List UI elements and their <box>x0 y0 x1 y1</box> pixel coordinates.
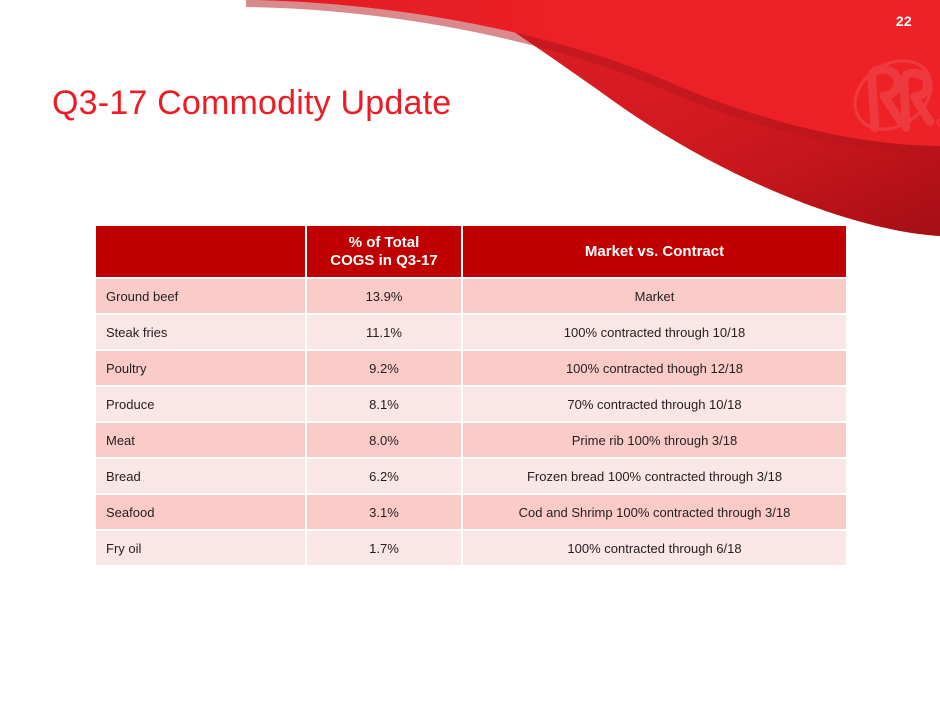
page-number: 22 <box>896 14 912 28</box>
slide-canvas: 22 Q3-17 Commodity Update % of Total COG… <box>0 0 940 705</box>
cell-percent-cogs: 13.9% <box>307 279 461 313</box>
cell-market-note: Frozen bread 100% contracted through 3/1… <box>463 459 846 493</box>
cell-market-note: 100% contracted through 6/18 <box>463 531 846 565</box>
table-row: Fry oil 1.7% 100% contracted through 6/1… <box>96 531 846 565</box>
cell-commodity-name: Steak fries <box>96 315 305 349</box>
column-header-market-vs-contract: Market vs. Contract <box>463 226 846 277</box>
table-row: Seafood 3.1% Cod and Shrimp 100% contrac… <box>96 495 846 529</box>
swoosh-lower-shape <box>466 0 940 236</box>
cell-commodity-name: Ground beef <box>96 279 305 313</box>
table-header: % of Total COGS in Q3-17 Market vs. Cont… <box>96 226 846 277</box>
cell-percent-cogs: 6.2% <box>307 459 461 493</box>
cell-commodity-name: Seafood <box>96 495 305 529</box>
column-header-commodity <box>96 226 305 277</box>
cell-commodity-name: Produce <box>96 387 305 421</box>
cell-percent-cogs: 11.1% <box>307 315 461 349</box>
page-title: Q3-17 Commodity Update <box>52 84 451 123</box>
cell-percent-cogs: 3.1% <box>307 495 461 529</box>
table-row: Produce 8.1% 70% contracted through 10/1… <box>96 387 846 421</box>
column-header-percent-cogs-line1: % of Total <box>313 234 455 252</box>
cell-commodity-name: Meat <box>96 423 305 457</box>
rr-logo-icon <box>836 42 940 148</box>
commodity-table: % of Total COGS in Q3-17 Market vs. Cont… <box>94 224 848 567</box>
cell-percent-cogs: 9.2% <box>307 351 461 385</box>
cell-market-note: Cod and Shrimp 100% contracted through 3… <box>463 495 846 529</box>
table-row: Steak fries 11.1% 100% contracted throug… <box>96 315 846 349</box>
cell-market-note: 100% contracted through 10/18 <box>463 315 846 349</box>
table-row: Meat 8.0% Prime rib 100% through 3/18 <box>96 423 846 457</box>
table-body: Ground beef 13.9% Market Steak fries 11.… <box>96 279 846 565</box>
cell-commodity-name: Bread <box>96 459 305 493</box>
cell-commodity-name: Fry oil <box>96 531 305 565</box>
table-row: Ground beef 13.9% Market <box>96 279 846 313</box>
cell-market-note: Prime rib 100% through 3/18 <box>463 423 846 457</box>
cell-percent-cogs: 1.7% <box>307 531 461 565</box>
column-header-percent-cogs: % of Total COGS in Q3-17 <box>307 226 461 277</box>
commodity-table-container: % of Total COGS in Q3-17 Market vs. Cont… <box>96 226 846 565</box>
cell-market-note: 70% contracted through 10/18 <box>463 387 846 421</box>
cell-percent-cogs: 8.0% <box>307 423 461 457</box>
cell-market-note: Market <box>463 279 846 313</box>
cell-market-note: 100% contracted though 12/18 <box>463 351 846 385</box>
table-row: Bread 6.2% Frozen bread 100% contracted … <box>96 459 846 493</box>
cell-commodity-name: Poultry <box>96 351 305 385</box>
table-header-row: % of Total COGS in Q3-17 Market vs. Cont… <box>96 226 846 277</box>
swoosh-lower-highlight <box>466 0 940 236</box>
swoosh-top-band <box>246 0 940 146</box>
cell-percent-cogs: 8.1% <box>307 387 461 421</box>
table-row: Poultry 9.2% 100% contracted though 12/1… <box>96 351 846 385</box>
column-header-percent-cogs-line2: COGS in Q3-17 <box>313 252 455 270</box>
swoosh-band-shadow <box>246 0 940 154</box>
